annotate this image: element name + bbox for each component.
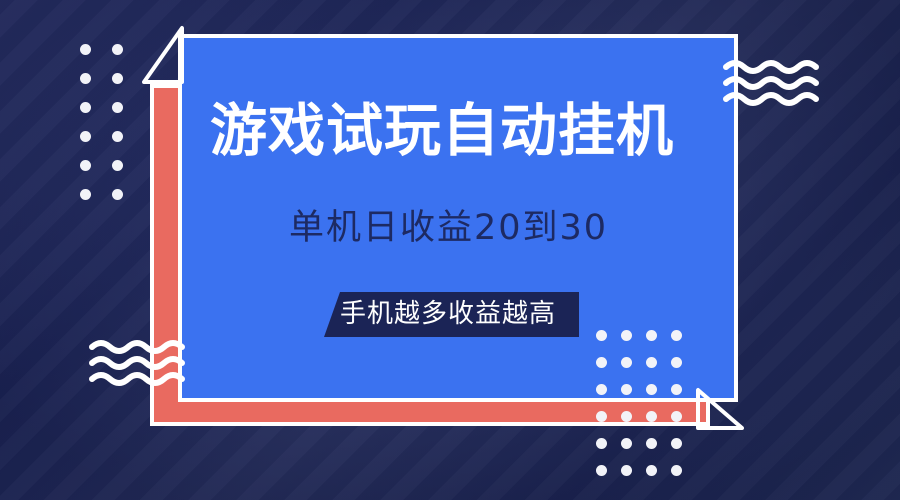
dot [596, 330, 607, 341]
dot [596, 465, 607, 476]
dot [80, 160, 91, 171]
dot [646, 384, 657, 395]
dot [112, 102, 123, 113]
dot [112, 131, 123, 142]
dot [80, 73, 91, 84]
wave-lines-icon [88, 338, 196, 388]
dot [112, 160, 123, 171]
dot [80, 44, 91, 55]
dot [621, 330, 632, 341]
folded-corner-icon [694, 386, 750, 436]
dot [646, 357, 657, 368]
dot [671, 384, 682, 395]
dot [621, 384, 632, 395]
dot [621, 357, 632, 368]
dot [112, 44, 123, 55]
poster-canvas: 游戏试玩自动挂机 单机日收益20到30 手机越多收益越高 [0, 0, 900, 500]
dot [596, 384, 607, 395]
dot [671, 438, 682, 449]
dot-grid-icon [80, 44, 123, 200]
dot [646, 438, 657, 449]
dot [671, 330, 682, 341]
folded-corner-icon [140, 24, 200, 86]
dot [621, 411, 632, 422]
dot [596, 357, 607, 368]
tagline-text: 手机越多收益越高 [340, 301, 556, 327]
dot [596, 411, 607, 422]
dot [646, 330, 657, 341]
dot [621, 465, 632, 476]
page-title: 游戏试玩自动挂机 [210, 103, 750, 160]
dot-grid-icon [596, 330, 682, 476]
wave-lines-icon [722, 58, 830, 108]
dot [112, 189, 123, 200]
dot [596, 438, 607, 449]
dot [671, 357, 682, 368]
dot [80, 131, 91, 142]
dot [112, 73, 123, 84]
dot [80, 189, 91, 200]
dot [646, 465, 657, 476]
dot [80, 102, 91, 113]
dot [671, 411, 682, 422]
dot [621, 438, 632, 449]
dot [646, 411, 657, 422]
subtitle-text: 单机日收益20到30 [289, 211, 608, 246]
dot [671, 465, 682, 476]
